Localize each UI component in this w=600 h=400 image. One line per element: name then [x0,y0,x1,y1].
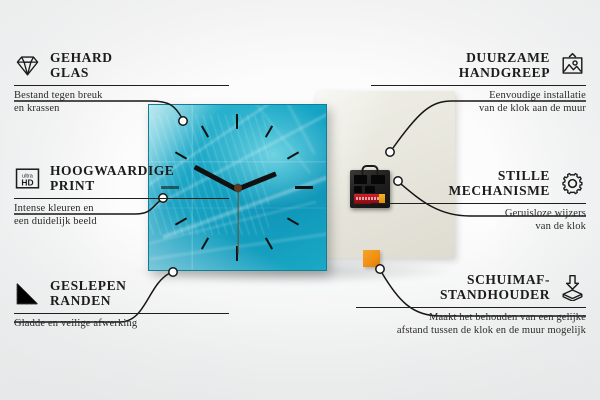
bevelled-edge-icon [14,280,41,307]
feature-desc-line1: Geruisloze wijzers [371,208,586,220]
ultra-hd-icon: ultra HD [14,165,41,192]
feature-divider [14,198,229,199]
hour-marker-3 [295,186,313,189]
feature-title-line2: PRINT [50,178,174,193]
feature-schuimafstandhouder[interactable]: SCHUIMAF- STANDHOUDER Maakt het behouden… [356,272,586,337]
spacer-press-icon [559,274,586,301]
feature-title: GEHARD GLAS [50,50,113,80]
gear-icon [559,170,586,197]
feature-title-line2: GLAS [50,65,113,80]
feature-header: STILLE MECHANISME [371,168,586,198]
feature-header: GESLEPEN RANDEN [14,278,229,308]
feature-title: HOOGWAARDIGE PRINT [50,163,174,193]
feature-desc-line1: Maakt het behouden van een gelijke [356,312,586,324]
feature-divider [371,203,586,204]
feature-desc-line2: van de klok aan de muur [371,103,586,115]
feature-description: Intense kleuren en een duidelijk beeld [14,203,229,227]
picture-hanger-icon [559,52,586,79]
feature-divider [356,307,586,308]
infographic-canvas: GEHARD GLAS Bestand tegen breuk en krass… [0,0,600,400]
feature-title-line2: RANDEN [50,293,126,308]
feature-title-line1: STILLE [448,168,550,183]
feature-desc-line1: Eenvoudige installatie [371,90,586,102]
feature-desc-line1: Bestand tegen breuk [14,90,229,102]
feature-title: DUURZAME HANDGREEP [459,50,550,80]
movement-slot [354,175,367,184]
feature-description: Maakt het behouden van een gelijke afsta… [356,312,586,336]
feature-title-line1: DUURZAME [459,50,550,65]
feature-desc-line2: en krassen [14,103,229,115]
feature-desc-line2: een duidelijk beeld [14,216,229,228]
feature-title-line1: SCHUIMAF- [440,272,550,287]
feature-title: STILLE MECHANISME [448,168,550,198]
foam-spacer [363,250,380,267]
clock-center-pin [234,184,242,192]
hour-marker-12 [236,114,238,129]
feature-description: Eenvoudige installatie van de klok aan d… [371,90,586,114]
feature-title: GESLEPEN RANDEN [50,278,126,308]
feature-desc-line1: Gladde en veilige afwerking [14,318,229,330]
feature-desc-line2: van de klok [371,221,586,233]
feature-header: GEHARD GLAS [14,50,229,80]
feature-divider [14,85,229,86]
feature-title-line1: HOOGWAARDIGE [50,163,174,178]
feature-divider [14,313,229,314]
feature-title-line1: GESLEPEN [50,278,126,293]
feature-description: Bestand tegen breuk en krassen [14,90,229,114]
feature-description: Geruisloze wijzers van de klok [371,208,586,232]
feature-desc-line2: afstand tussen de klok en de muur mogeli… [356,325,586,337]
feature-title-line2: HANDGREEP [459,65,550,80]
feature-hoogwaardige-print[interactable]: ultra HD HOOGWAARDIGE PRINT Intense kleu… [14,163,229,228]
feature-header: ultra HD HOOGWAARDIGE PRINT [14,163,229,193]
feature-header: DUURZAME HANDGREEP [371,50,586,80]
feature-description: Gladde en veilige afwerking [14,318,229,330]
feature-geslepen-randen[interactable]: GESLEPEN RANDEN Gladde en veilige afwerk… [14,278,229,331]
diamond-icon [14,52,41,79]
feature-gehard-glas[interactable]: GEHARD GLAS Bestand tegen breuk en krass… [14,50,229,115]
clock-second-hand [237,189,238,255]
feature-stille-mechanisme[interactable]: STILLE MECHANISME Geruisloze wijzers van… [371,168,586,233]
movement-slot [354,186,362,193]
feature-title: SCHUIMAF- STANDHOUDER [440,272,550,302]
svg-text:HD: HD [21,177,33,187]
feature-title-line2: MECHANISME [448,183,550,198]
feature-divider [371,85,586,86]
feature-title-line2: STANDHOUDER [440,287,550,302]
feature-title-line1: GEHARD [50,50,113,65]
feature-header: SCHUIMAF- STANDHOUDER [356,272,586,302]
feature-duurzame-handgreep[interactable]: DUURZAME HANDGREEP Eenvoudige installati… [371,50,586,115]
feature-desc-line1: Intense kleuren en [14,203,229,215]
